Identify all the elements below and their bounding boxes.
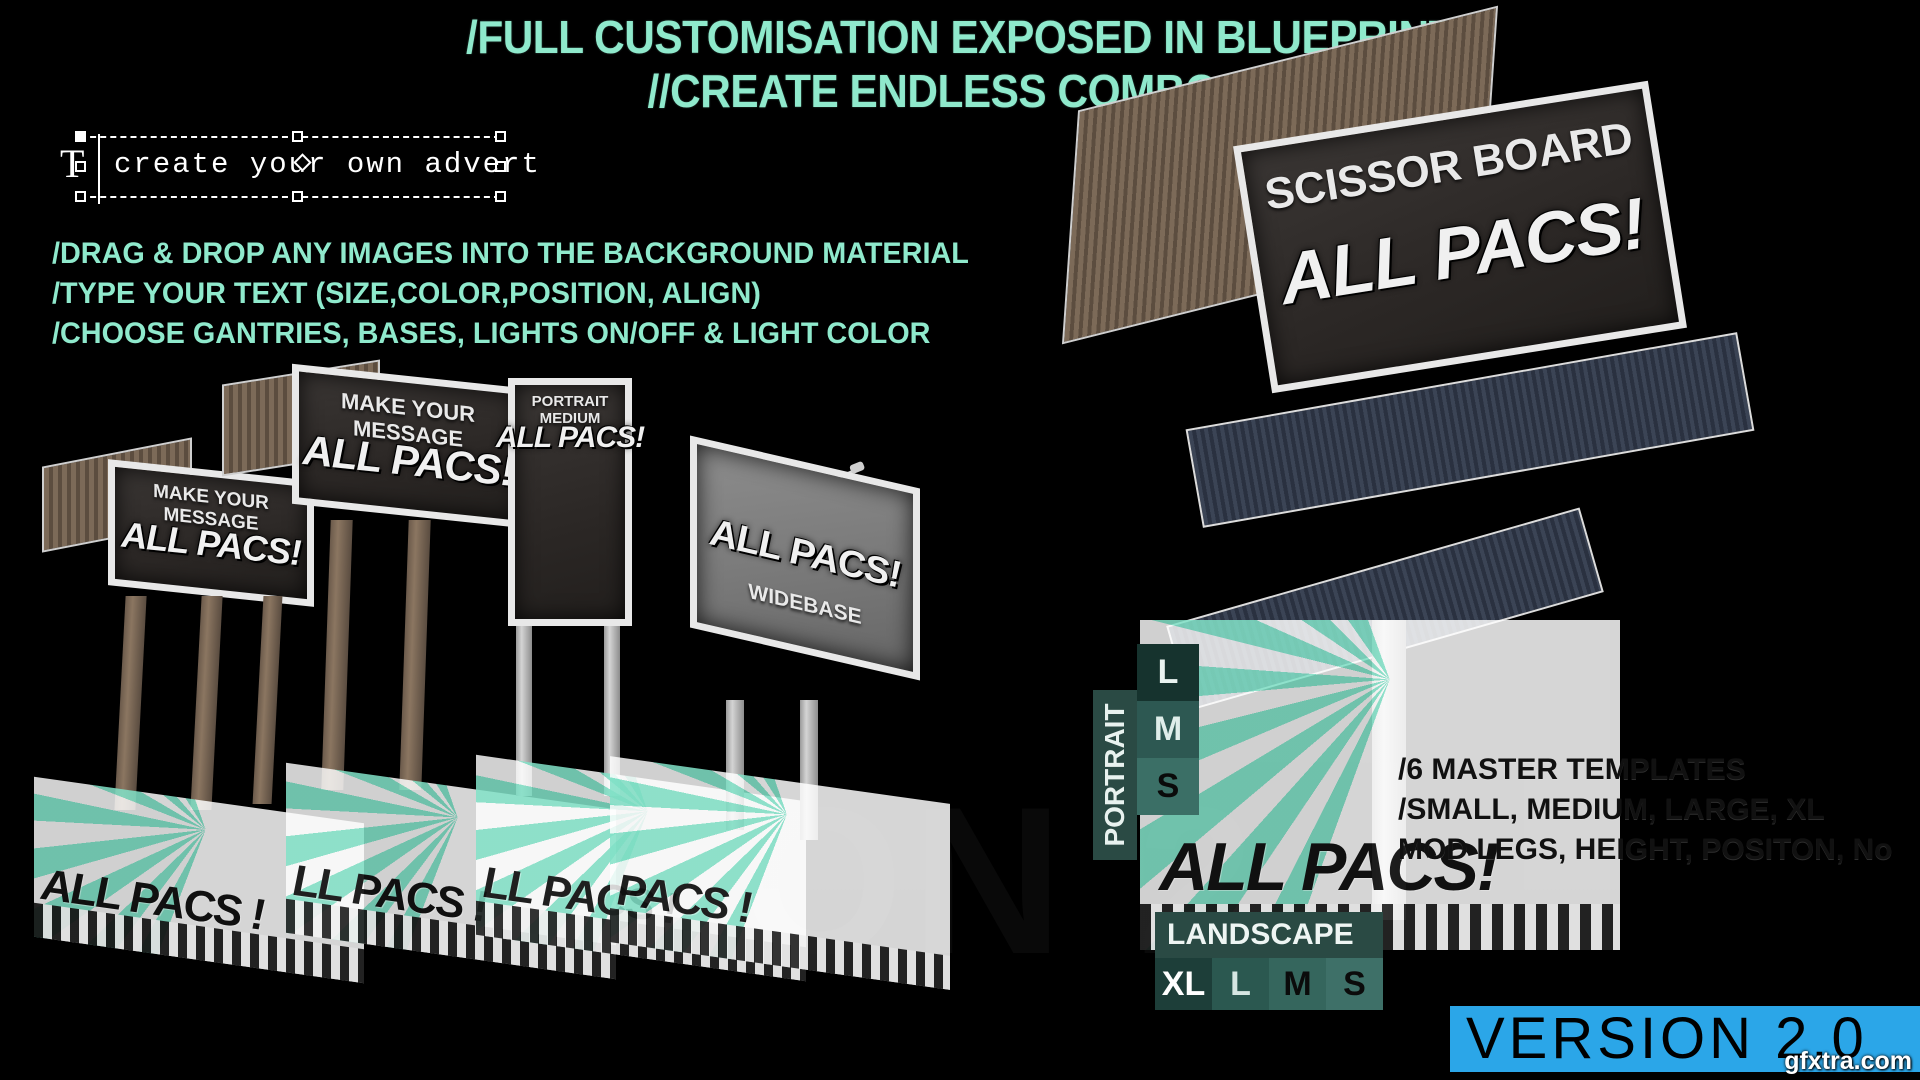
landscape-size-option-l[interactable]: L [1212,958,1269,1010]
landscape-options: XL L M S [1155,958,1383,1010]
screenshot-canvas: /FULL CUSTOMISATION EXPOSED IN BLUEPRINT… [0,0,1920,1080]
billboard-1-leg-right [190,596,222,810]
billboard-1-leg-rear [253,596,283,804]
landscape-size-option-s[interactable]: S [1326,958,1383,1010]
billboard-1-leg-left [114,596,146,810]
spec-list: /6 MASTER TEMPLATES /SMALL, MEDIUM, LARG… [1398,750,1893,870]
billboard-4-panel: ALL PACS! WIDEBASE [690,435,920,680]
landscape-label: LANDSCAPE [1155,912,1383,958]
portrait-label-text: PORTRAIT [1099,703,1131,846]
portrait-size-option-m[interactable]: M [1137,701,1199,758]
portrait-label: PORTRAIT [1093,690,1137,860]
billboard-3-brand: ALL PACS! [496,421,644,455]
billboard-3-panel: PORTRAIT MEDIUM ALL PACS! [508,378,632,626]
site-watermark: gfxtra.com [1784,1047,1912,1076]
portrait-size-option-s[interactable]: S [1137,758,1199,815]
billboard-1-panel: MAKE YOUR MESSAGE ALL PACS! [108,459,314,607]
spec-item-2: MOD LEGS, HEIGHT, POSITON, No [1398,830,1893,870]
landscape-size-option-m[interactable]: M [1269,958,1326,1010]
billboard-2-panel: MAKE YOUR MESSAGE ALL PACS! [292,364,524,528]
landscape-size-option-xl[interactable]: XL [1155,958,1212,1010]
product-render-scene: ON 2 MAKE YOUR MESSAGE ALL PACS! ALL PAC… [0,0,1920,1080]
spec-item-0: /6 MASTER TEMPLATES [1398,750,1893,790]
spec-item-1: /SMALL, MEDIUM, LARGE, XL [1398,790,1893,830]
billboard-2-leg-left [321,520,352,790]
billboard-2-leg-right [399,520,430,790]
portrait-size-option-l[interactable]: L [1137,644,1199,701]
